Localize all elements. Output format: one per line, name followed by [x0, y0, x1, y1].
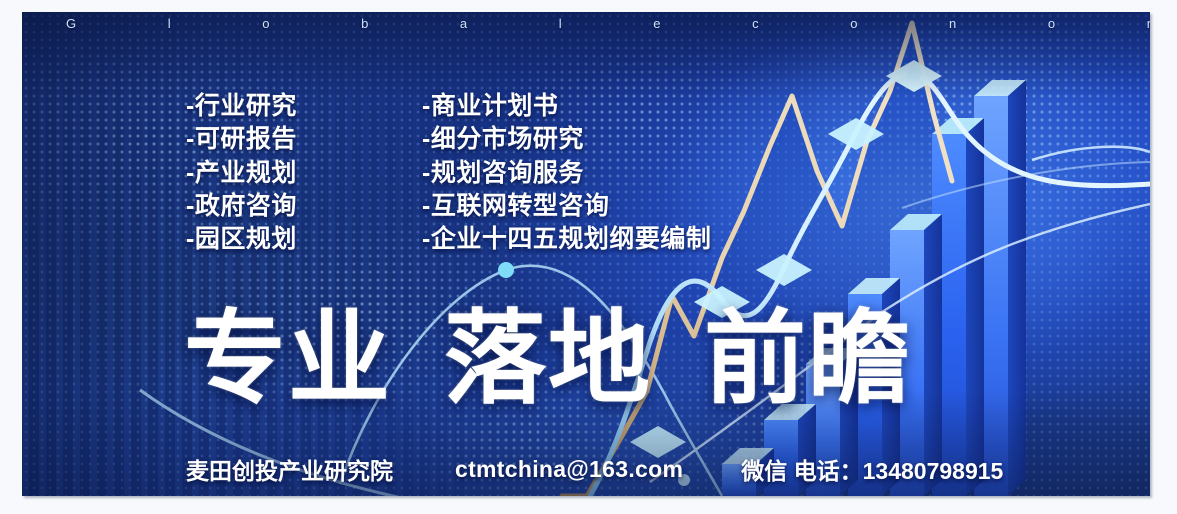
- service-item: -可研报告: [186, 123, 297, 156]
- footer-organization: 麦田创投产业研究院: [186, 452, 393, 486]
- service-item: -行业研究: [186, 90, 297, 123]
- services-column-right: -商业计划书 -细分市场研究 -规划咨询服务 -互联网转型咨询 -企业十四五规划…: [422, 90, 711, 256]
- service-item: -细分市场研究: [422, 123, 711, 156]
- footer-phone: 微信 电话：13480798915: [741, 452, 1003, 486]
- headline-word-1: 专业: [184, 308, 392, 410]
- footer-email[interactable]: ctmtchina@163.com: [455, 456, 683, 483]
- eyebrow-global-economy: G l o b a l e c o n o m y: [22, 16, 1150, 31]
- services-column-left: -行业研究 -可研报告 -产业规划 -政府咨询 -园区规划: [186, 90, 297, 256]
- banner-canvas: G l o b a l e c o n o m y -行业研究 -可研报告 -产…: [22, 12, 1150, 496]
- headline: 专业 落地 前瞻: [184, 308, 912, 410]
- service-item: -商业计划书: [422, 90, 711, 123]
- headline-word-2: 落地: [444, 308, 652, 410]
- service-item: -规划咨询服务: [422, 157, 711, 190]
- footer-contact-bar: 麦田创投产业研究院 ctmtchina@163.com 微信 电话：134807…: [186, 452, 1003, 486]
- service-item: -产业规划: [186, 157, 297, 190]
- headline-word-3: 前瞻: [704, 308, 912, 410]
- service-item: -政府咨询: [186, 190, 297, 223]
- service-item: -企业十四五规划纲要编制: [422, 223, 711, 256]
- service-item: -互联网转型咨询: [422, 190, 711, 223]
- service-item: -园区规划: [186, 223, 297, 256]
- banner-root: G l o b a l e c o n o m y -行业研究 -可研报告 -产…: [0, 0, 1177, 514]
